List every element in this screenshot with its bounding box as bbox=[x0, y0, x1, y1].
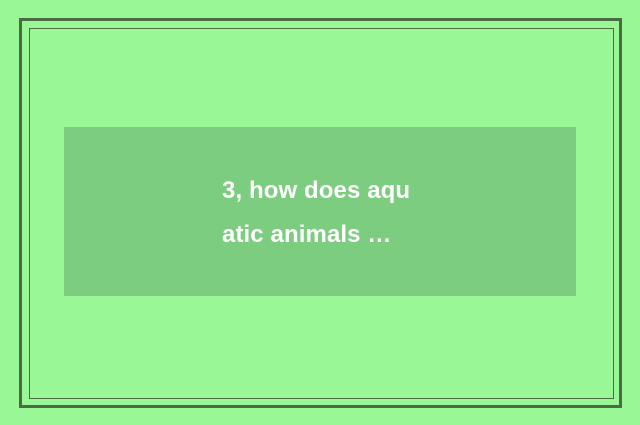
caption-panel: 3, how does aqu atic animals … bbox=[64, 127, 576, 296]
caption-text: 3, how does aqu atic animals … bbox=[222, 169, 552, 257]
image-canvas: 3, how does aqu atic animals … bbox=[0, 0, 640, 425]
